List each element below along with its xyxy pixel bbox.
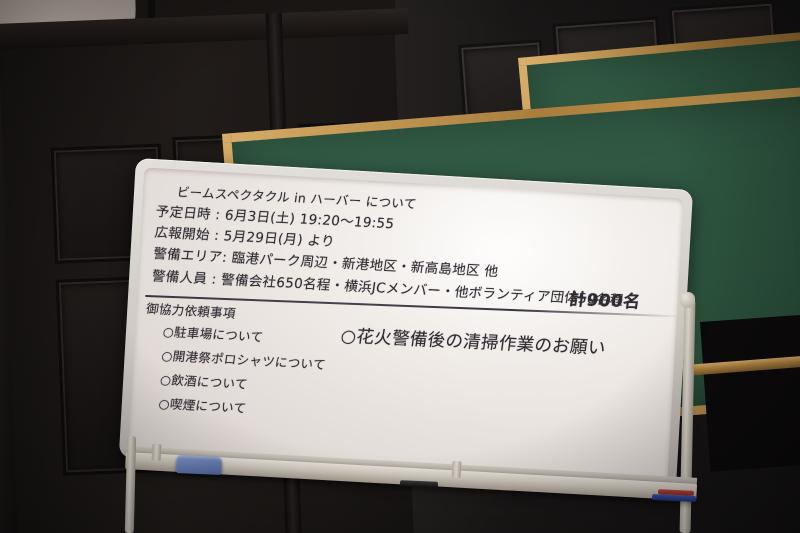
cleanup-request-note: ○花火警備後の清掃作業のお願い xyxy=(339,323,607,360)
whiteboard[interactable]: ビームスペクタクル in ハーバー について 予定日時 : 6月3日(土) 19… xyxy=(119,158,693,490)
tray-bracket xyxy=(152,444,162,461)
personnel-total: 計900名 xyxy=(568,285,643,313)
cooperation-section-heading: 御協力依頼事項 xyxy=(145,298,237,322)
bullet-item: ○喫煙について xyxy=(158,393,248,417)
tray-bracket xyxy=(452,461,462,478)
whiteboard-eraser[interactable] xyxy=(176,455,223,475)
whiteboard-surface[interactable]: ビームスペクタクル in ハーバー について 予定日時 : 6月3日(土) 19… xyxy=(128,168,683,481)
stand-post-cap xyxy=(680,292,695,308)
bullet-item: ○駐車場について xyxy=(162,321,265,346)
whiteboard-photo-scene: ビームスペクタクル in ハーバー について 予定日時 : 6月3日(土) 19… xyxy=(0,0,800,533)
chalkboard-recess-shadow xyxy=(700,314,800,472)
bullet-item: ○開港祭ポロシャツについて xyxy=(160,345,327,373)
bullet-item: ○飲酒について xyxy=(159,369,249,393)
